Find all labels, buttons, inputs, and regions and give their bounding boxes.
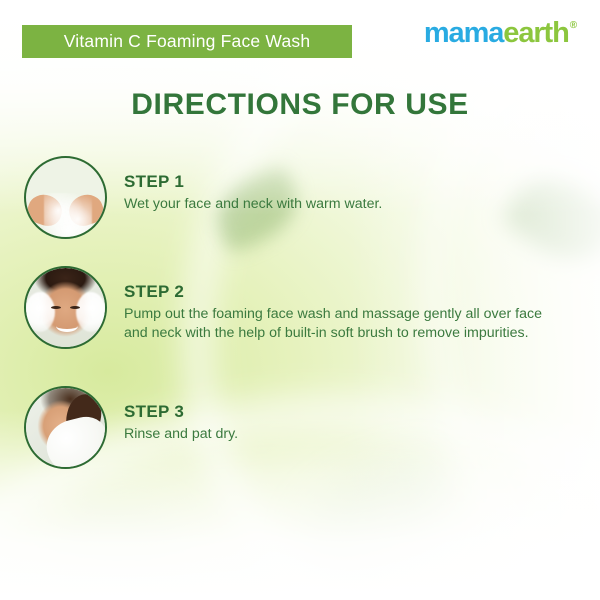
- step-1-description: Wet your face and neck with warm water.: [124, 195, 382, 214]
- eye-right-shape: [70, 306, 80, 309]
- water-splash-shape: [44, 193, 92, 237]
- towel-shape: [41, 412, 105, 467]
- wash-face-illustration: [26, 158, 105, 237]
- step-1-text-block: STEP 1 Wet your face and neck with warm …: [124, 156, 382, 214]
- step-item-2: STEP 2 Pump out the foaming face wash an…: [24, 266, 542, 349]
- step-item-3: STEP 3 Rinse and pat dry.: [24, 386, 238, 469]
- step-3-heading: STEP 3: [124, 402, 238, 422]
- step-2-text-block: STEP 2 Pump out the foaming face wash an…: [124, 266, 542, 342]
- logo-text-earth: earth: [503, 19, 568, 48]
- eye-left-shape: [51, 306, 61, 309]
- step-1-heading: STEP 1: [124, 172, 382, 192]
- step-item-1: STEP 1 Wet your face and neck with warm …: [24, 156, 382, 239]
- pat-dry-illustration: [26, 388, 105, 467]
- foam-left-shape: [26, 292, 55, 332]
- product-title-text: Vitamin C Foaming Face Wash: [64, 31, 311, 52]
- step-3-photo: [24, 386, 107, 469]
- step-3-text-block: STEP 3 Rinse and pat dry.: [124, 386, 238, 444]
- smile-shape: [56, 320, 78, 332]
- logo-text-mama: mama: [424, 19, 503, 48]
- step-2-heading: STEP 2: [124, 282, 542, 302]
- page-title: DIRECTIONS FOR USE: [0, 88, 600, 122]
- directions-for-use-poster: Vitamin C Foaming Face Wash mama earth ®…: [0, 0, 600, 600]
- mamaearth-logo: mama earth ®: [424, 19, 576, 48]
- product-title-banner: Vitamin C Foaming Face Wash: [22, 25, 352, 58]
- registered-trademark-icon: ®: [570, 21, 576, 31]
- step-2-photo: [24, 266, 107, 349]
- step-3-description: Rinse and pat dry.: [124, 425, 238, 444]
- step-1-photo: [24, 156, 107, 239]
- foam-right-shape: [76, 292, 105, 332]
- massage-foam-illustration: [26, 268, 105, 347]
- step-2-description: Pump out the foaming face wash and massa…: [124, 305, 542, 342]
